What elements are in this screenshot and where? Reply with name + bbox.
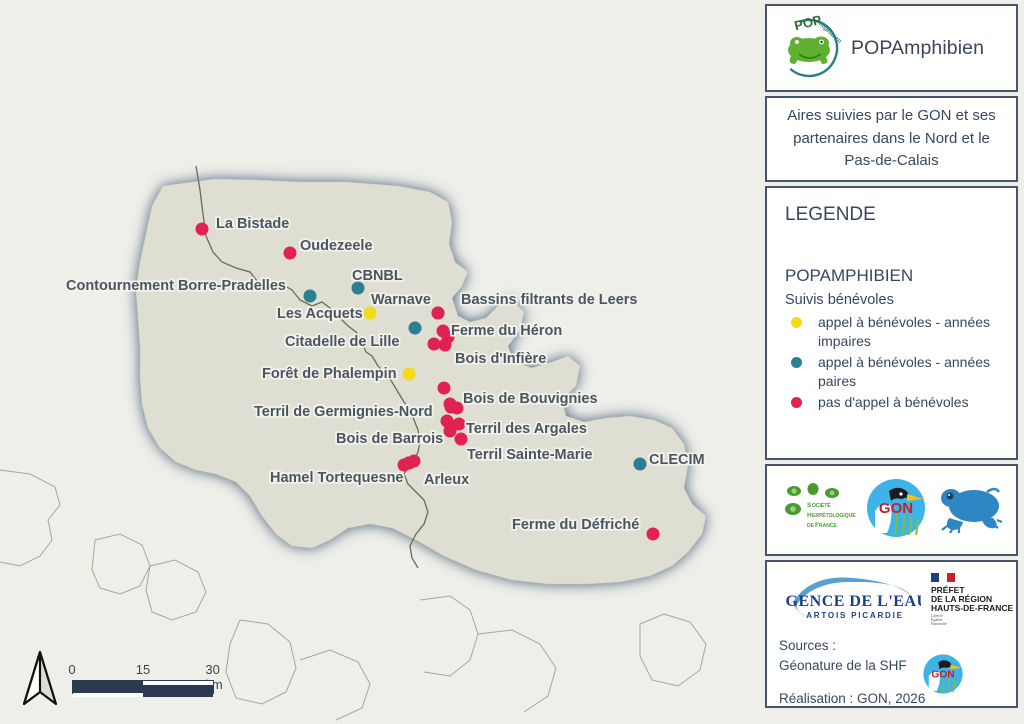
map-page: La BistadeOudezeeleContournement Borre-P… (0, 0, 1024, 724)
map-site-dot[interactable] (304, 290, 317, 303)
legend-items: appel à bénévoles - années impairesappel… (785, 313, 1002, 411)
map-canvas[interactable]: La BistadeOudezeeleContournement Borre-P… (0, 0, 763, 724)
agence-de-leau-artois-picardie-logo: AGENCE DE L'EAU ARTOIS PICARDIE (785, 572, 921, 629)
sources-label: Sources : (779, 636, 1006, 656)
legend-section-title: POPAMPHIBIEN (785, 266, 1002, 286)
brand-header: POP Amphibien POPAmphibien (765, 4, 1018, 92)
map-site-dot[interactable] (432, 307, 445, 320)
legend-item[interactable]: appel à bénévoles - années paires (785, 353, 1002, 391)
map-site-dot[interactable] (439, 339, 452, 352)
map-site-dot[interactable] (403, 368, 416, 381)
svg-text:AGENCE DE L'EAU: AGENCE DE L'EAU (785, 593, 921, 610)
svg-text:OCIÉTÉ: OCIÉTÉ (812, 501, 831, 509)
brand-title: POPAmphibien (851, 37, 984, 60)
map-site-dot[interactable] (403, 457, 416, 470)
svg-text:ERPÉTOLOGIQUE: ERPÉTOLOGIQUE (812, 511, 856, 519)
legend-item[interactable]: pas d'appel à bénévoles (785, 393, 1002, 412)
map-site-dot[interactable] (409, 322, 422, 335)
legend-swatch-dot-icon (791, 317, 802, 328)
map-subtitle-box: Aires suivies par le GON et ses partenai… (765, 96, 1018, 182)
prefet-region-hauts-de-france-logo: PRÉFET DE LA RÉGION HAUTS-DE-FRANCE Libe… (929, 571, 1019, 630)
scale-segment-1 (73, 681, 143, 697)
map-site-dot[interactable] (445, 401, 458, 414)
map-site-dot[interactable] (438, 382, 451, 395)
map-side-panel: POP Amphibien POPAmphibien Aires suivies… (763, 0, 1024, 724)
map-site-dot[interactable] (284, 247, 297, 260)
legend-swatch-dot-icon (791, 357, 802, 368)
map-subtitle: Aires suivies par le GON et ses partenai… (777, 105, 1006, 173)
svg-text:GON: GON (879, 500, 913, 517)
legend-item-label: pas d'appel à bénévoles (818, 393, 969, 412)
north-arrow-icon (18, 650, 62, 713)
sources-value: Géonature de la SHF (779, 656, 1006, 676)
legend-item-label: appel à bénévoles - années impaires (818, 313, 1002, 351)
legend-item-label: appel à bénévoles - années paires (818, 353, 1002, 391)
map-site-dot[interactable] (352, 282, 365, 295)
pop-amphibien-frog-logo: POP Amphibien (775, 14, 843, 82)
svg-text:Fraternité: Fraternité (931, 621, 947, 625)
map-site-dot[interactable] (455, 433, 468, 446)
legend-title: LEGENDE (785, 204, 1002, 226)
svg-text:DE: DE (807, 523, 815, 529)
blue-frog-logo (937, 480, 1003, 541)
societe-herpetologique-de-france-logo: S OCIÉTÉ H ERPÉTOLOGIQUE DE F RANCE (780, 479, 856, 542)
scale-tick-15: 15 (136, 662, 150, 677)
footer-logos: AGENCE DE L'EAU ARTOIS PICARDIE PRÉFET D… (779, 570, 1006, 630)
map-site-dot[interactable] (634, 458, 647, 471)
scale-segment-2 (143, 681, 213, 697)
gon-logo: GON (865, 477, 927, 544)
legend-box: LEGENDE POPAMPHIBIEN Suivis bénévoles ap… (765, 186, 1018, 460)
svg-text:RANCE: RANCE (819, 523, 837, 529)
map-site-dot[interactable] (446, 420, 459, 433)
map-site-dot[interactable] (437, 325, 450, 338)
footer-box: AGENCE DE L'EAU ARTOIS PICARDIE PRÉFET D… (765, 560, 1018, 708)
svg-text:GON: GON (931, 669, 954, 680)
svg-text:ARTOIS PICARDIE: ARTOIS PICARDIE (806, 611, 904, 620)
legend-subsection-title: Suivis bénévoles (785, 292, 1002, 308)
map-site-dot[interactable] (364, 307, 377, 320)
svg-text:HAUTS-DE-FRANCE: HAUTS-DE-FRANCE (931, 603, 1013, 613)
gon-logo: GON (922, 653, 964, 700)
realisation-line: Réalisation : GON, 2026 (779, 689, 1006, 709)
map-site-dot[interactable] (647, 528, 660, 541)
map-geometry (0, 0, 763, 724)
legend-item[interactable]: appel à bénévoles - années impaires (785, 313, 1002, 351)
map-site-dot[interactable] (196, 223, 209, 236)
partner-logos-box: S OCIÉTÉ H ERPÉTOLOGIQUE DE F RANCE (765, 464, 1018, 556)
scale-tick-0: 0 (68, 662, 75, 677)
scale-bar: 0 15 30 km (72, 662, 214, 694)
legend-swatch-dot-icon (791, 397, 802, 408)
